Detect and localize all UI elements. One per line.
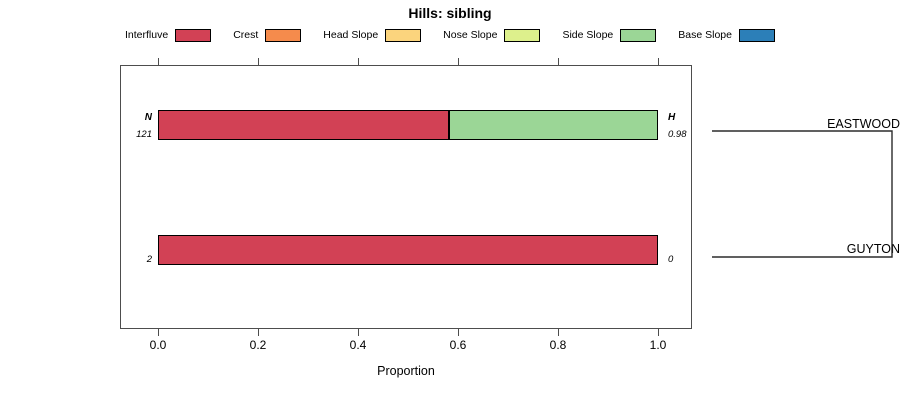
color-swatch-icon [739,29,775,42]
plot-area [120,65,692,329]
legend-item[interactable]: Head Slope [323,29,421,42]
legend-item[interactable]: Side Slope [562,29,656,42]
legend-item[interactable]: Base Slope [678,29,775,42]
page-title: Hills: sibling [0,5,900,21]
x-tick-label: 0.6 [433,338,483,352]
color-swatch-icon [504,29,540,42]
x-tick-mark-top [258,58,259,65]
dendrogram-bracket [712,131,892,257]
n-column-header: N [112,112,152,123]
legend: InterfluveCrestHead SlopeNose SlopeSide … [0,26,900,44]
x-tick-mark-bottom [258,329,259,336]
x-tick-mark-bottom [158,329,159,336]
legend-item-label: Crest [233,29,258,41]
x-tick-mark-bottom [358,329,359,336]
x-tick-mark-top [658,58,659,65]
color-swatch-icon [620,29,656,42]
color-swatch-icon [175,29,211,42]
legend-item-label: Nose Slope [443,29,497,41]
color-swatch-icon [385,29,421,42]
x-tick-label: 0.8 [533,338,583,352]
x-tick-mark-bottom [558,329,559,336]
x-tick-mark-bottom [658,329,659,336]
bar-n-value: 2 [112,254,152,265]
legend-item[interactable]: Crest [233,29,301,42]
x-tick-label: 0.2 [233,338,283,352]
legend-item-label: Head Slope [323,29,378,41]
x-tick-label: 0.4 [333,338,383,352]
x-tick-mark-bottom [458,329,459,336]
color-swatch-icon [265,29,301,42]
bar-segment[interactable] [158,110,449,140]
legend-item-label: Base Slope [678,29,732,41]
legend-item[interactable]: Nose Slope [443,29,540,42]
bar-segment[interactable] [449,110,658,140]
x-tick-mark-top [158,58,159,65]
dendrogram [700,65,900,329]
x-tick-mark-top [558,58,559,65]
legend-item-label: Interfluve [125,29,168,41]
legend-item-label: Side Slope [562,29,613,41]
legend-item[interactable]: Interfluve [125,29,211,42]
bar-n-value: 121 [112,129,152,140]
dendrogram-svg [700,65,900,329]
x-tick-mark-top [358,58,359,65]
x-axis-title: Proportion [120,364,692,378]
x-tick-label: 1.0 [633,338,683,352]
x-tick-mark-top [458,58,459,65]
chart-root: Hills: sibling InterfluveCrestHead Slope… [0,0,900,400]
x-tick-label: 0.0 [133,338,183,352]
bar-segment[interactable] [158,235,658,265]
